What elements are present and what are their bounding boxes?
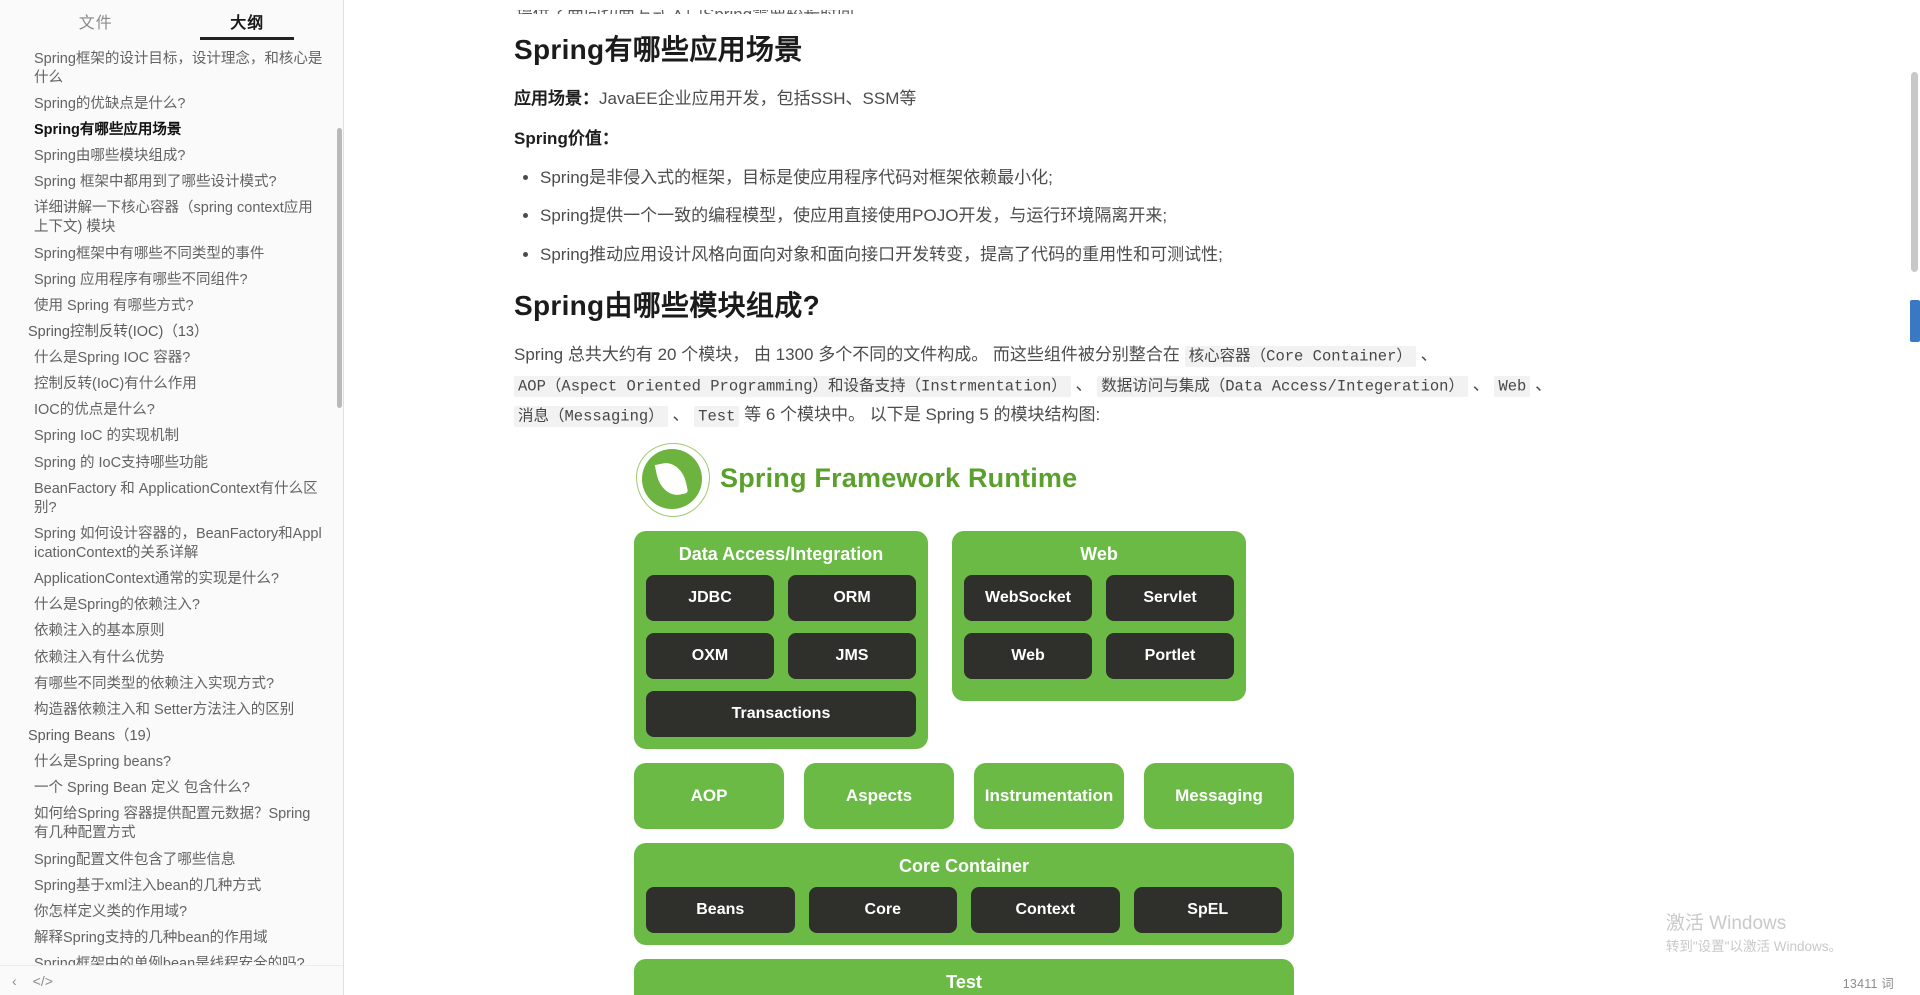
- group-test: Test: [634, 959, 1294, 995]
- module-web: Web: [964, 633, 1092, 679]
- list-item: Spring推动应用设计风格向面向对象和面向接口开发转变，提高了代码的重用性和可…: [540, 241, 1634, 270]
- module-messaging: Messaging: [1144, 763, 1294, 829]
- word-count[interactable]: 13411 词: [1843, 973, 1894, 992]
- watermark-line-1: 激活 Windows: [1666, 911, 1842, 937]
- paragraph-scenario: 应用场景：JavaEE企业应用开发，包括SSH、SSM等: [514, 84, 1634, 114]
- outline-item[interactable]: 详细讲解一下核心容器（spring context应用上下文) 模块: [10, 196, 327, 241]
- module-jdbc: JDBC: [646, 575, 774, 621]
- typora-window: 文件 大纲 Spring框架的设计目标，设计理念，和核心是什么Spring的优缺…: [0, 0, 1920, 995]
- outline-item[interactable]: Spring 的 IoC支持哪些功能: [10, 450, 327, 476]
- group-web: Web WebSocket Servlet Web Portlet: [952, 531, 1246, 749]
- paragraph-value-label: Spring价值：: [514, 124, 1634, 154]
- module-orm: ORM: [788, 575, 916, 621]
- outline-item[interactable]: 你怎样定义类的作用域?: [10, 899, 327, 925]
- heading-spring-modules: Spring由哪些模块组成?: [514, 284, 1634, 324]
- outline-item[interactable]: Spring框架中的单例bean是线程安全的吗?: [10, 952, 327, 966]
- outline-item[interactable]: Spring 应用程序有哪些不同组件?: [10, 267, 327, 293]
- status-bar: 13411 词: [1843, 969, 1920, 995]
- module-transactions: Transactions: [646, 691, 916, 737]
- outline-item[interactable]: 有哪些不同类型的依赖注入实现方式?: [10, 671, 327, 697]
- code-aop: AOP（Aspect Oriented Programming）和设备支持（In…: [514, 376, 1071, 397]
- module-jms: JMS: [788, 633, 916, 679]
- outline-item[interactable]: 使用 Spring 有哪些方式?: [10, 293, 327, 319]
- outline-item[interactable]: 依赖注入有什么优势: [10, 645, 327, 671]
- outline-item[interactable]: Spring由哪些模块组成?: [10, 144, 327, 170]
- outline-item[interactable]: Spring控制反转(IOC)（13）: [10, 319, 327, 345]
- spring-framework-runtime-diagram: Spring Framework Runtime Data Access/Int…: [634, 449, 1294, 995]
- outline-item[interactable]: Spring的优缺点是什么?: [10, 91, 327, 117]
- spring-leaf-icon: [642, 449, 702, 509]
- outline-item[interactable]: Spring框架的设计目标，设计理念，和核心是什么: [10, 46, 327, 91]
- module-aspects: Aspects: [804, 763, 954, 829]
- outline-item[interactable]: 什么是Spring beans?: [10, 750, 327, 776]
- modules-text-3: 、: [1071, 375, 1097, 394]
- outline-item[interactable]: ApplicationContext通常的实现是什么?: [10, 567, 327, 593]
- modules-text-1: Spring 总共大约有 20 个模块， 由 1300 多个不同的文件构成。 而…: [514, 345, 1185, 364]
- tab-files[interactable]: 文件: [36, 9, 156, 40]
- module-oxm: OXM: [646, 633, 774, 679]
- module-instrumentation: Instrumentation: [974, 763, 1124, 829]
- content-scrollbar-track[interactable]: [1908, 0, 1920, 995]
- outline-item[interactable]: 一个 Spring Bean 定义 包含什么?: [10, 776, 327, 802]
- outline-item[interactable]: 构造器依赖注入和 Setter方法注入的区别: [10, 697, 327, 723]
- outline-item[interactable]: Spring基于xml注入bean的几种方式: [10, 873, 327, 899]
- outline-item[interactable]: 解释Spring支持的几种bean的作用域: [10, 925, 327, 951]
- outline-item[interactable]: Spring配置文件包含了哪些信息: [10, 847, 327, 873]
- outline-item[interactable]: IOC的优点是什么?: [10, 398, 327, 424]
- windows-activation-watermark: 激活 Windows 转到"设置"以激活 Windows。: [1666, 911, 1842, 957]
- source-code-icon[interactable]: </>: [33, 974, 53, 988]
- content-scrollbar-thumb[interactable]: [1911, 72, 1918, 272]
- outline-item[interactable]: 控制反转(IoC)有什么作用: [10, 372, 327, 398]
- modules-text-5: 、: [1530, 375, 1552, 394]
- outline-item[interactable]: 什么是Spring的依赖注入?: [10, 593, 327, 619]
- outline-item[interactable]: Spring框架中有哪些不同类型的事件: [10, 241, 327, 267]
- document-area[interactable]: 提供了面向切面方式入门Spring需要较长时间 Spring有哪些应用场景 应用…: [344, 0, 1920, 995]
- top-fade-overlay: [344, 0, 1920, 10]
- modules-text-4: 、: [1468, 375, 1494, 394]
- tab-outline[interactable]: 大纲: [187, 9, 307, 40]
- outline-item[interactable]: Spring IoC 的实现机制: [10, 424, 327, 450]
- value-bullet-list: Spring是非侵入式的框架，目标是使应用程序代码对框架依赖最小化; Sprin…: [514, 164, 1634, 271]
- outline-list[interactable]: Spring框架的设计目标，设计理念，和核心是什么Spring的优缺点是什么?S…: [0, 40, 343, 965]
- paragraph-modules: Spring 总共大约有 20 个模块， 由 1300 多个不同的文件构成。 而…: [514, 340, 1634, 430]
- sidebar: 文件 大纲 Spring框架的设计目标，设计理念，和核心是什么Spring的优缺…: [0, 0, 344, 995]
- modules-text-7: 等 6 个模块中。 以下是 Spring 5 的模块结构图:: [739, 405, 1100, 424]
- document-scroll[interactable]: 提供了面向切面方式入门Spring需要较长时间 Spring有哪些应用场景 应用…: [344, 0, 1920, 995]
- module-beans: Beans: [646, 887, 795, 933]
- diagram-title-row: Spring Framework Runtime: [634, 449, 1294, 509]
- module-portlet: Portlet: [1106, 633, 1234, 679]
- sidebar-scrollbar-thumb[interactable]: [337, 128, 342, 408]
- list-item: Spring提供一个一致的编程模型，使应用直接使用POJO开发，与运行环境隔离开…: [540, 202, 1634, 231]
- code-web: Web: [1494, 376, 1530, 397]
- code-messaging: 消息（Messaging）: [514, 406, 668, 427]
- group-title: Test: [646, 969, 1282, 995]
- scenario-text: JavaEE企业应用开发，包括SSH、SSM等: [599, 89, 916, 108]
- module-websocket: WebSocket: [964, 575, 1092, 621]
- module-aop: AOP: [634, 763, 784, 829]
- group-title: Data Access/Integration: [646, 541, 916, 575]
- sidebar-bottom-bar: ‹ </>: [0, 965, 343, 995]
- diagram-title: Spring Framework Runtime: [720, 463, 1077, 494]
- outline-item[interactable]: 什么是Spring IOC 容器?: [10, 346, 327, 372]
- outline-item[interactable]: BeanFactory 和 ApplicationContext有什么区别?: [10, 476, 327, 521]
- group-title: Core Container: [646, 853, 1282, 887]
- scroll-position-marker[interactable]: [1910, 300, 1920, 342]
- outline-item[interactable]: Spring 框架中都用到了哪些设计模式?: [10, 170, 327, 196]
- module-context: Context: [971, 887, 1120, 933]
- outline-item[interactable]: Spring Beans（19）: [10, 723, 327, 749]
- diagram-top-row: Data Access/Integration JDBC ORM OXM JMS: [634, 531, 1294, 749]
- module-spel: SpEL: [1134, 887, 1283, 933]
- module-core: Core: [809, 887, 958, 933]
- diagram-middle-row: AOP Aspects Instrumentation Messaging: [634, 763, 1294, 829]
- group-title: Web: [964, 541, 1234, 575]
- code-data-access: 数据访问与集成（Data Access/Integeration）: [1097, 376, 1468, 397]
- group-data-access: Data Access/Integration JDBC ORM OXM JMS: [634, 531, 928, 749]
- group-core-container: Core Container Beans Core Context SpEL: [634, 843, 1294, 945]
- modules-text-6: 、: [668, 405, 694, 424]
- sidebar-tabs: 文件 大纲: [0, 0, 343, 40]
- chevron-left-icon[interactable]: ‹: [12, 974, 17, 988]
- code-core-container: 核心容器（Core Container）: [1185, 346, 1416, 367]
- code-test: Test: [694, 406, 739, 427]
- outline-item[interactable]: Spring有哪些应用场景: [10, 117, 327, 143]
- outline-item[interactable]: Spring 如何设计容器的，BeanFactory和ApplicationCo…: [10, 521, 327, 566]
- outline-item[interactable]: 依赖注入的基本原则: [10, 619, 327, 645]
- module-servlet: Servlet: [1106, 575, 1234, 621]
- heading-spring-use-cases: Spring有哪些应用场景: [514, 28, 1634, 68]
- modules-text-2: 、: [1416, 345, 1438, 364]
- list-item: Spring是非侵入式的框架，目标是使应用程序代码对框架依赖最小化;: [540, 164, 1634, 193]
- value-label: Spring价值：: [514, 129, 619, 148]
- scenario-label: 应用场景：: [514, 89, 599, 108]
- outline-item[interactable]: 如何给Spring 容器提供配置元数据？Spring有几种配置方式: [10, 802, 327, 847]
- watermark-line-2: 转到"设置"以激活 Windows。: [1666, 937, 1842, 957]
- sidebar-scrollbar-track[interactable]: [335, 40, 343, 965]
